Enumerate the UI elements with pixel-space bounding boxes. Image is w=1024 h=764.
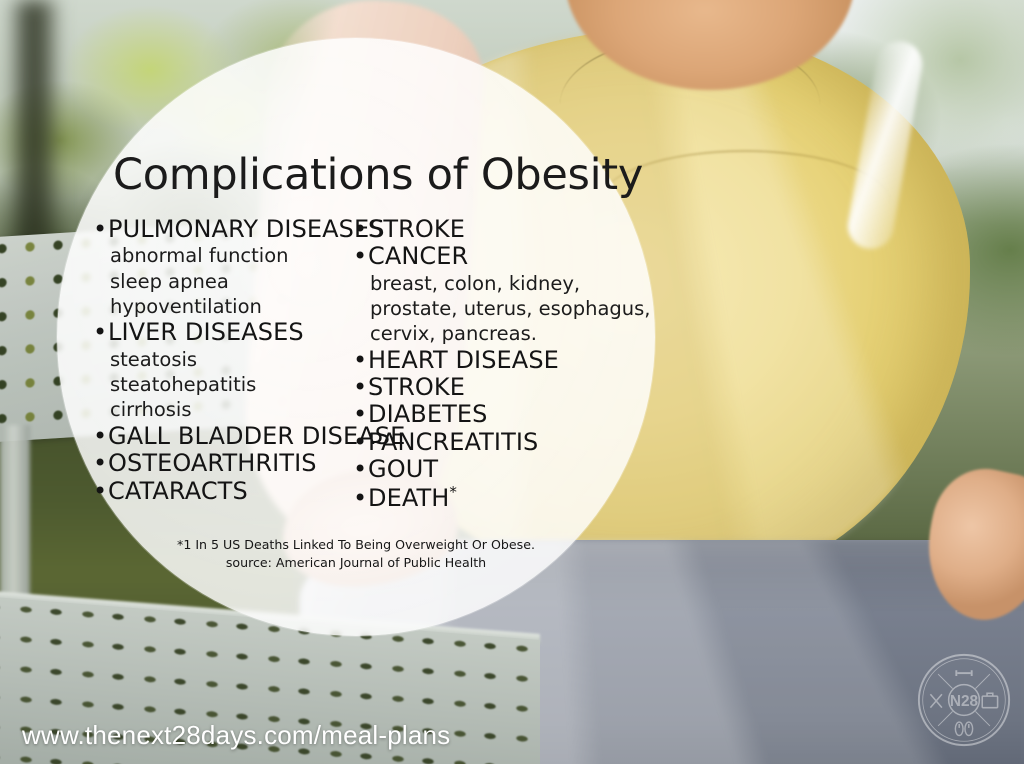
poster-canvas: Complications of Obesity •PULMONARY DISE… xyxy=(0,0,1024,764)
briefcase-icon xyxy=(982,693,997,707)
complication-subitem: steatohepatitis xyxy=(93,372,353,397)
complication-label: PANCREATITIS xyxy=(368,428,538,456)
list-item: •CANCER breast, colon, kidney, prostate,… xyxy=(353,243,653,346)
list-item: •STROKE xyxy=(353,374,653,401)
list-item: •DIABETES xyxy=(353,401,653,428)
complication-label: STROKE xyxy=(368,215,465,243)
bullet-dot-icon: • xyxy=(353,429,368,456)
complication-label: STROKE xyxy=(368,373,465,401)
complication-heading: •CATARACTS xyxy=(93,478,353,505)
complication-heading: •GOUT xyxy=(353,456,653,483)
complication-subitem: hypoventilation xyxy=(93,294,353,319)
n28-watermark-logo: N28 xyxy=(916,652,1012,748)
list-item: •LIVER DISEASES steatosis steatohepatiti… xyxy=(93,319,353,422)
complications-list-left: •PULMONARY DISEASES abnormal function sl… xyxy=(93,216,353,505)
complication-label: CANCER xyxy=(368,242,468,270)
footnote-line-1: *1 In 5 US Deaths Linked To Being Overwe… xyxy=(57,536,655,554)
bullet-dot-icon: • xyxy=(353,243,368,270)
complication-label: CATARACTS xyxy=(108,477,248,505)
complication-heading: •PULMONARY DISEASES xyxy=(93,216,353,243)
bullet-dot-icon: • xyxy=(353,347,368,374)
complication-heading: •DIABETES xyxy=(353,401,653,428)
complications-columns: •PULMONARY DISEASES abnormal function sl… xyxy=(93,216,663,512)
bullet-dot-icon: • xyxy=(353,374,368,401)
list-item: •OSTEOARTHRITIS xyxy=(93,450,353,477)
complication-subitem: cervix, pancreas. xyxy=(353,321,653,346)
bullet-dot-icon: • xyxy=(93,478,108,505)
complication-label: OSTEOARTHRITIS xyxy=(108,449,317,477)
complication-heading: •PANCREATITIS xyxy=(353,429,653,456)
page-title: Complications of Obesity xyxy=(113,150,643,200)
complication-heading: •HEART DISEASE xyxy=(353,347,653,374)
site-url[interactable]: www.thenext28days.com/meal-plans xyxy=(22,720,450,751)
complication-label: DIABETES xyxy=(368,400,487,428)
complication-heading: •STROKE xyxy=(353,374,653,401)
bullet-dot-icon: • xyxy=(353,485,368,512)
complication-subitem: abnormal function xyxy=(93,243,353,268)
complications-list-right: •STROKE •CANCER breast, colon, kidney, p… xyxy=(353,216,653,512)
list-item: •CATARACTS xyxy=(93,478,353,505)
complication-heading: •STROKE xyxy=(353,216,653,243)
complication-subitem: breast, colon, kidney, xyxy=(353,271,653,296)
complication-subitem: prostate, uterus, esophagus, xyxy=(353,296,653,321)
bullet-dot-icon: • xyxy=(353,401,368,428)
complication-label: PULMONARY DISEASES xyxy=(108,215,385,243)
list-item: •GOUT xyxy=(353,456,653,483)
footnote-line-2: source: American Journal of Public Healt… xyxy=(57,554,655,572)
watermark-center-label: N28 xyxy=(950,693,979,710)
complication-label: GOUT xyxy=(368,455,438,483)
complication-label: DEATH xyxy=(368,484,449,512)
list-item: •HEART DISEASE xyxy=(353,347,653,374)
complications-column-right: •STROKE •CANCER breast, colon, kidney, p… xyxy=(353,216,653,512)
list-item: •DEATH* xyxy=(353,484,653,512)
complication-subitem: sleep apnea xyxy=(93,269,353,294)
list-item: •STROKE xyxy=(353,216,653,243)
footnote-marker: * xyxy=(449,483,457,501)
cutlery-icon xyxy=(930,694,942,707)
list-item: •PULMONARY DISEASES abnormal function sl… xyxy=(93,216,353,319)
flip-flops-icon xyxy=(955,722,972,735)
complication-label: HEART DISEASE xyxy=(368,346,559,374)
bullet-dot-icon: • xyxy=(353,216,368,243)
complication-heading: •LIVER DISEASES xyxy=(93,319,353,346)
bullet-dot-icon: • xyxy=(93,423,108,450)
complication-heading: •OSTEOARTHRITIS xyxy=(93,450,353,477)
bullet-dot-icon: • xyxy=(93,450,108,477)
list-item: •GALL BLADDER DISEASE xyxy=(93,423,353,450)
complication-subitem: steatosis xyxy=(93,347,353,372)
bullet-dot-icon: • xyxy=(93,319,108,346)
info-graphic-content: Complications of Obesity •PULMONARY DISE… xyxy=(57,38,655,636)
bullet-dot-icon: • xyxy=(353,456,368,483)
background-tree-trunk xyxy=(8,0,60,250)
list-item: •PANCREATITIS xyxy=(353,429,653,456)
complication-label: LIVER DISEASES xyxy=(108,318,304,346)
dumbbell-icon xyxy=(956,670,971,676)
complication-heading: •DEATH* xyxy=(353,484,653,512)
complication-subitem: cirrhosis xyxy=(93,397,353,422)
complications-column-left: •PULMONARY DISEASES abnormal function sl… xyxy=(93,216,353,512)
bullet-dot-icon: • xyxy=(93,216,108,243)
footnote: *1 In 5 US Deaths Linked To Being Overwe… xyxy=(57,536,655,573)
complication-heading: •GALL BLADDER DISEASE xyxy=(93,423,353,450)
complication-heading: •CANCER xyxy=(353,243,653,270)
